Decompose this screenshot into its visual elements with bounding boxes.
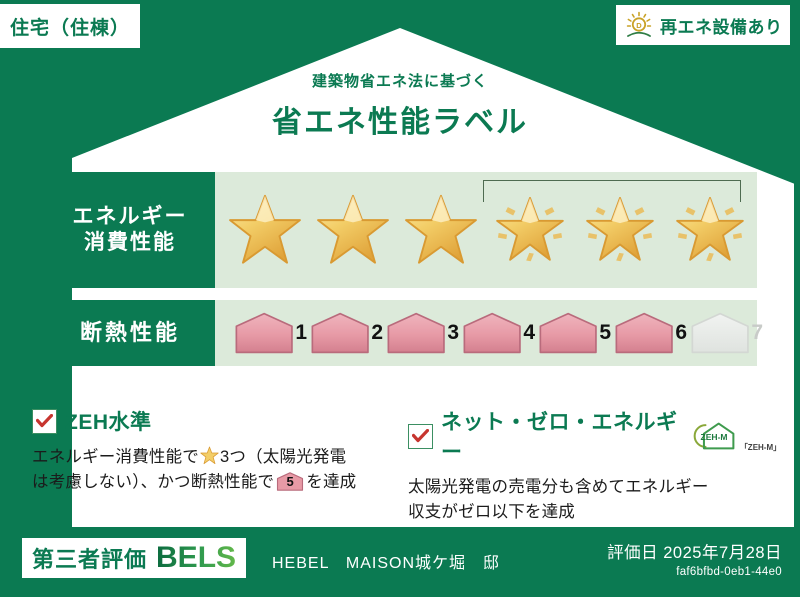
star-1 xyxy=(221,193,309,267)
zeh-m-logo: ZEH-M 「ZEH-M」 xyxy=(690,419,778,453)
insulation-label-text: 断熱性能 xyxy=(80,319,180,347)
star-2 xyxy=(309,193,397,267)
insulation-level-3: 3 xyxy=(385,307,459,359)
title-subtitle: 建築物省エネ法に基づく xyxy=(0,70,800,91)
criteria-right-line1: 太陽光発電の売電分も含めてエネルギー xyxy=(408,475,778,500)
owner-name: 城ケ堀 邸 xyxy=(415,549,500,573)
insulation-level-group: 1 2 3 4 xyxy=(215,300,757,366)
star-4-solar xyxy=(485,189,575,271)
evaluation-id: faf6bfbd-0eb1-44e0 xyxy=(607,566,782,578)
criteria-left-star-count: 3つ（太陽光発電 xyxy=(220,448,346,466)
criteria-left-text2: は考慮しない）、かつ断熱性能で xyxy=(32,473,274,491)
brand-name: HEBEL MAISON xyxy=(272,549,415,573)
bels-logo: 第三者評価 BELS xyxy=(22,538,246,578)
insulation-level-5: 5 xyxy=(537,307,611,359)
insulation-level-3-value: 3 xyxy=(447,321,459,345)
zeh-m-logo-caption: 「ZEH-M」 xyxy=(740,442,778,453)
solar-sun-icon: D xyxy=(624,10,654,40)
energy-performance-row: エネルギー 消費性能 太陽光発電(自家消費)分 xyxy=(45,172,757,288)
insulation-level-2: 2 xyxy=(309,307,383,359)
evaluation-info: 評価日 2025年7月28日 faf6bfbd-0eb1-44e0 xyxy=(607,539,782,578)
criteria-zeh-standard: ZEH水準 エネルギー消費性能で3つ（太陽光発電は考慮しない）、かつ断熱性能で5… xyxy=(32,406,392,495)
insulation-level-2-value: 2 xyxy=(371,321,383,345)
insulation-level-7: 7 xyxy=(689,307,763,359)
solar-bracket-label: 太陽光発電(自家消費)分 xyxy=(752,167,800,183)
insulation-level-6: 6 xyxy=(613,307,687,359)
inline-house-level-icon: 5 xyxy=(276,471,304,492)
label-root: 住宅（住棟） D 再エネ設備あり 建築物省エネ法に基づ xyxy=(0,0,800,597)
bels-jp-label: 第三者評価 xyxy=(32,542,147,574)
star-6-solar xyxy=(665,189,755,271)
star-5-solar xyxy=(575,189,665,271)
criteria-right-title: ネット・ゼロ・エネルギー xyxy=(441,406,680,466)
svg-text:ZEH-M: ZEH-M xyxy=(700,432,727,442)
criteria-right-header: ネット・ゼロ・エネルギー ZEH-M 「ZEH-M」 xyxy=(408,406,778,466)
insulation-level-6-value: 6 xyxy=(675,321,687,345)
insulation-level-4-value: 4 xyxy=(523,321,535,345)
bels-en-label: BELS xyxy=(156,541,236,575)
criteria-right-body: 太陽光発電の売電分も含めてエネルギー 収支がゼロ以下を達成 xyxy=(408,475,778,525)
energy-rating-area: 太陽光発電(自家消費)分 xyxy=(215,172,757,288)
energy-performance-label: エネルギー 消費性能 xyxy=(45,172,215,288)
insulation-level-1-value: 1 xyxy=(295,321,307,345)
star-rating-group xyxy=(215,172,757,288)
evaluation-date: 評価日 2025年7月28日 xyxy=(607,539,782,563)
renewable-badge-label: 再エネ設備あり xyxy=(660,13,783,38)
criteria-net-zero-energy: ネット・ゼロ・エネルギー ZEH-M 「ZEH-M」 太陽光発電の売電分も含めて… xyxy=(408,406,778,525)
criteria-right-line2: 収支がゼロ以下を達成 xyxy=(408,500,778,525)
insulation-level-1: 1 xyxy=(233,307,307,359)
energy-label-line1: エネルギー xyxy=(73,204,188,230)
star-3 xyxy=(397,193,485,267)
inline-house-level-value: 5 xyxy=(276,471,304,492)
insulation-level-5-value: 5 xyxy=(599,321,611,345)
checkbox-checked-icon xyxy=(32,409,57,434)
criteria-left-title: ZEH水準 xyxy=(65,406,152,436)
insulation-level-4: 4 xyxy=(461,307,535,359)
energy-label-line2: 消費性能 xyxy=(84,230,176,256)
criteria-left-text3: を達成 xyxy=(306,473,356,491)
checkbox-checked-icon xyxy=(408,424,433,449)
criteria-left-header: ZEH水準 xyxy=(32,406,392,436)
insulation-performance-row: 断熱性能 1 2 xyxy=(45,300,757,366)
insulation-performance-label: 断熱性能 xyxy=(45,300,215,366)
insulation-level-7-value: 7 xyxy=(751,321,763,345)
title-block: 建築物省エネ法に基づく 省エネ性能ラベル xyxy=(0,70,800,141)
inline-star-icon xyxy=(200,446,219,465)
insulation-rating-area: 1 2 3 4 xyxy=(215,300,757,366)
criteria-left-body: エネルギー消費性能で3つ（太陽光発電は考慮しない）、かつ断熱性能で5を達成 xyxy=(32,445,392,495)
criteria-left-text1: エネルギー消費性能で xyxy=(32,448,199,466)
footer-bar: 第三者評価 BELS HEBEL MAISON 城ケ堀 邸 評価日 2025年7… xyxy=(0,527,800,597)
page-title: 省エネ性能ラベル xyxy=(0,97,800,141)
renewable-equipment-badge: D 再エネ設備あり xyxy=(616,5,790,45)
building-type-label: 住宅（住棟） xyxy=(10,13,130,40)
building-type-tag: 住宅（住棟） xyxy=(0,4,140,48)
svg-text:D: D xyxy=(636,21,642,30)
